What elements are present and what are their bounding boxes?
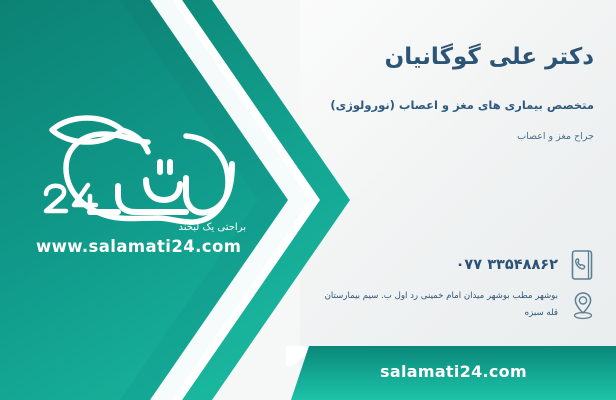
logo-tagline: براحتی یک لبخند xyxy=(179,222,247,233)
phonebook-icon xyxy=(568,248,598,282)
doctor-role: جراح مغز و اعصاب xyxy=(517,131,594,142)
footer-website-url: salamati24.com xyxy=(291,362,616,381)
brand-logo: براحتی یک لبخند www.salamati24.com xyxy=(18,108,288,273)
phone-number: ۳۳۵۴۸۸۶۲ ۰۷۷ xyxy=(456,257,558,273)
address-line-1: بوشهر مطب بوشهر میدان امام خمینی رد اول … xyxy=(325,288,558,305)
logo-website-url: www.salamati24.com xyxy=(36,237,241,256)
footer-bar: salamati24.com xyxy=(291,346,616,400)
address-line-2: قله سبزه xyxy=(325,305,558,322)
phone-row[interactable]: ۳۳۵۴۸۸۶۲ ۰۷۷ xyxy=(456,248,598,282)
map-pin-icon xyxy=(568,288,598,322)
doctor-specialty: متخصص بیماری های مغز و اعصاب (نورولوژی) xyxy=(330,98,594,112)
address-text: بوشهر مطب بوشهر میدان امام خمینی رد اول … xyxy=(325,288,558,322)
address-row[interactable]: بوشهر مطب بوشهر میدان امام خمینی رد اول … xyxy=(325,288,598,322)
apple-calligraphy-logo-icon xyxy=(18,108,288,233)
business-card: براحتی یک لبخند www.salamati24.com دکتر … xyxy=(0,0,616,400)
doctor-name: دکتر علی گوگانیان xyxy=(385,44,594,70)
